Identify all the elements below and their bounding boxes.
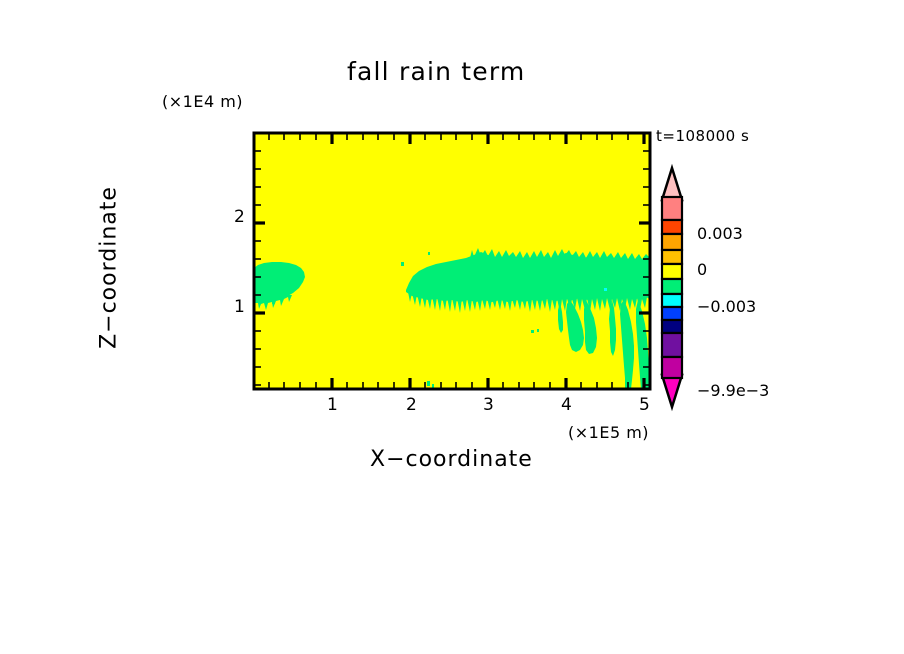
x-tick-label-4: 4: [561, 395, 572, 415]
colorbar-band-5: [662, 279, 682, 294]
contour-left-blob-fringe: [254, 295, 292, 310]
colorbar-band-10: [662, 357, 682, 378]
x-tick-label-5: 5: [639, 395, 650, 415]
colorbar-band-2: [662, 234, 682, 250]
y-axis-unit-label: (×1E4 m): [162, 92, 243, 111]
colorbar-band-9: [662, 333, 682, 357]
contour-speckle-6: [432, 384, 434, 388]
colorbar-band-0: [662, 197, 682, 220]
timestamp-label: t=108000 s: [656, 127, 749, 145]
contour-streak-a2: [584, 300, 597, 354]
contour-speckle-2: [428, 252, 430, 255]
contour-left-blob: [254, 262, 305, 303]
plot-background-field: [254, 133, 650, 389]
colorbar-bottom-arrow: [662, 375, 682, 407]
colorbar-top-arrow: [662, 168, 682, 200]
colorbar-band-8: [662, 320, 682, 333]
page-title: fall rain term: [347, 57, 525, 86]
contour-main-layer-crest: [470, 248, 650, 268]
contour-feature-group: [254, 248, 650, 389]
colorbar-bands: [662, 197, 682, 378]
colorbar-band-3: [662, 250, 682, 264]
figure-canvas: fall rain term (×1E4 m) t=108000 s X−coo…: [0, 0, 904, 654]
x-axis-ticks-top: [269, 133, 644, 144]
x-tick-label-3: 3: [483, 395, 494, 415]
contour-speckle-3: [531, 330, 534, 333]
colorbar-band-7: [662, 307, 682, 320]
colorbar-label-2: −0.003: [697, 297, 756, 316]
plot-frame: [254, 133, 650, 389]
contour-streak-thin-a: [558, 302, 563, 333]
contour-speckle-1: [401, 262, 404, 266]
contour-speckle-7: [604, 288, 607, 291]
y-tick-label-1: 1: [234, 297, 245, 317]
colorbar-band-6: [662, 294, 682, 307]
colorbar-label-0: 0.003: [697, 224, 743, 243]
contour-main-layer-fringe: [408, 290, 650, 313]
colorbar-label-1: 0: [697, 260, 707, 279]
contour-streak-b2: [636, 300, 650, 389]
y-axis-title: Z−coordinate: [97, 153, 122, 383]
contour-streak-b: [620, 300, 634, 389]
contour-plot: [0, 0, 904, 654]
colorbar: [662, 168, 682, 407]
y-axis-ticks-left: [254, 151, 265, 385]
colorbar-label-3: −9.9e−3: [697, 381, 769, 400]
colorbar-band-1: [662, 220, 682, 234]
contour-main-layer: [406, 252, 650, 302]
x-tick-label-2: 2: [406, 395, 417, 415]
y-axis-ticks-right: [639, 151, 650, 385]
contour-streak-a: [566, 300, 584, 352]
y-tick-label-2: 2: [234, 207, 245, 227]
contour-speckle-4: [537, 329, 539, 332]
contour-streak-b3: [609, 300, 616, 356]
x-axis-ticks-bottom: [269, 378, 644, 389]
contour-speckle-8: [272, 300, 275, 304]
contour-speckle-5: [427, 381, 430, 386]
colorbar-band-4: [662, 264, 682, 279]
x-axis-title: X−coordinate: [370, 447, 533, 472]
x-tick-label-1: 1: [327, 395, 338, 415]
x-axis-unit-label: (×1E5 m): [568, 423, 649, 442]
